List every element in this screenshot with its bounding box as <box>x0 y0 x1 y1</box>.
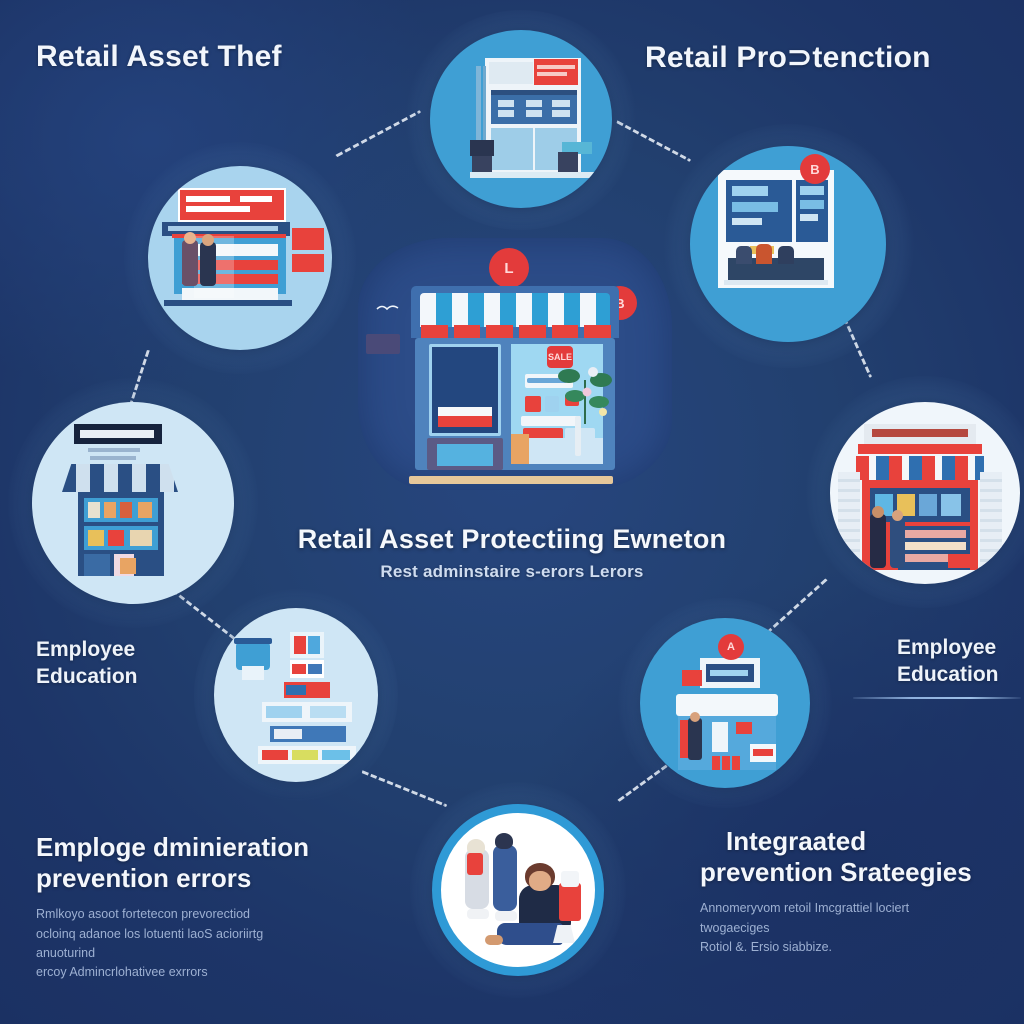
node-top-center[interactable] <box>418 24 624 214</box>
node-disc <box>214 608 378 782</box>
heading-line-1: Integraated <box>700 826 972 857</box>
node-bottom-center[interactable] <box>424 796 612 984</box>
label-line-2: Education <box>36 663 138 690</box>
badge-icon: B <box>800 154 830 184</box>
bottom-left-text-block: Emploge dminieration prevention errors R… <box>36 832 309 983</box>
awning-frame <box>411 286 619 338</box>
store-shelves-products-icon <box>214 608 378 782</box>
body-line-2: Rotiol &. Ersio siabbize. <box>700 938 970 957</box>
node-disc <box>430 30 612 208</box>
body-line-3: ercoy Admincrlohativee exrrors <box>36 963 306 982</box>
bottom-left-heading: Emploge dminieration prevention errors <box>36 832 309 893</box>
label-employee-education-right: Employee Education <box>897 634 999 689</box>
storefront-closed-icon <box>430 30 612 208</box>
heading-line-2: prevention errors <box>36 863 309 894</box>
body-line-1: Rmlkoyo asoot fortetecon prevorectiod <box>36 905 306 924</box>
infographic-canvas: B <box>0 0 1024 1024</box>
node-disc <box>148 166 332 350</box>
left-window <box>429 344 501 436</box>
store-door <box>427 438 503 470</box>
storefront-shoppers-icon <box>148 166 332 350</box>
shelf-side-panel <box>511 434 529 464</box>
retail-kiosk-icon: A <box>640 618 810 788</box>
red-storefront-people-icon <box>830 402 1020 584</box>
page-title-top-right: Retail Pro⊃tenction <box>645 40 931 75</box>
node-disc: B <box>690 146 886 342</box>
storefront-badge-top-icon: L <box>489 248 529 288</box>
node-disc: A <box>640 618 810 788</box>
training-room-icon: B <box>690 146 886 342</box>
label-line-1: Employee <box>36 636 138 663</box>
bird-icon <box>376 300 400 310</box>
badge-icon: A <box>718 634 744 660</box>
bottom-left-body: Rmlkoyo asoot fortetecon prevorectiod oc… <box>36 905 306 983</box>
heading-line-1: Emploge dminieration <box>36 832 309 863</box>
node-lower-right[interactable]: A <box>632 612 818 794</box>
node-disc <box>432 804 604 976</box>
page-title-top-left: Retail Asset Thef <box>36 40 282 74</box>
bottom-right-heading: Integraated prevention Srateegies <box>700 826 972 887</box>
plant-icon <box>557 350 613 424</box>
storefront-base <box>409 476 613 484</box>
shoppers-people-icon <box>441 813 595 967</box>
node-lower-left[interactable] <box>208 602 384 788</box>
label-employee-education-left: Employee Education <box>36 636 138 691</box>
node-disc <box>830 402 1020 584</box>
node-upper-right[interactable]: B <box>680 140 898 352</box>
label-line-1: Employee <box>897 634 999 661</box>
awning-stripes <box>420 293 610 327</box>
node-upper-left[interactable] <box>140 158 340 358</box>
divider-rule-right <box>853 697 1021 699</box>
label-line-2: Education <box>897 661 999 688</box>
wall-panel-icon <box>366 334 400 354</box>
storefront-illustration: L B SALE <box>411 264 619 476</box>
body-line-2: ocloinq adanoe los lotuenti laoS aciorii… <box>36 925 306 964</box>
center-store-card: L B SALE <box>358 238 672 490</box>
center-title: Retail Asset Protectiing Ewneton <box>0 524 1024 555</box>
bottom-right-body: Annomeryvom retoil Imcgrattiel lociert t… <box>700 899 970 957</box>
bottom-right-text-block: Integraated prevention Srateegies Annome… <box>700 826 972 957</box>
heading-line-2: prevention Srateegies <box>700 857 972 888</box>
center-subtitle: Rest adminstaire s-erors Lerors <box>0 562 1024 582</box>
body-line-1: Annomeryvom retoil Imcgrattiel lociert t… <box>700 899 970 938</box>
